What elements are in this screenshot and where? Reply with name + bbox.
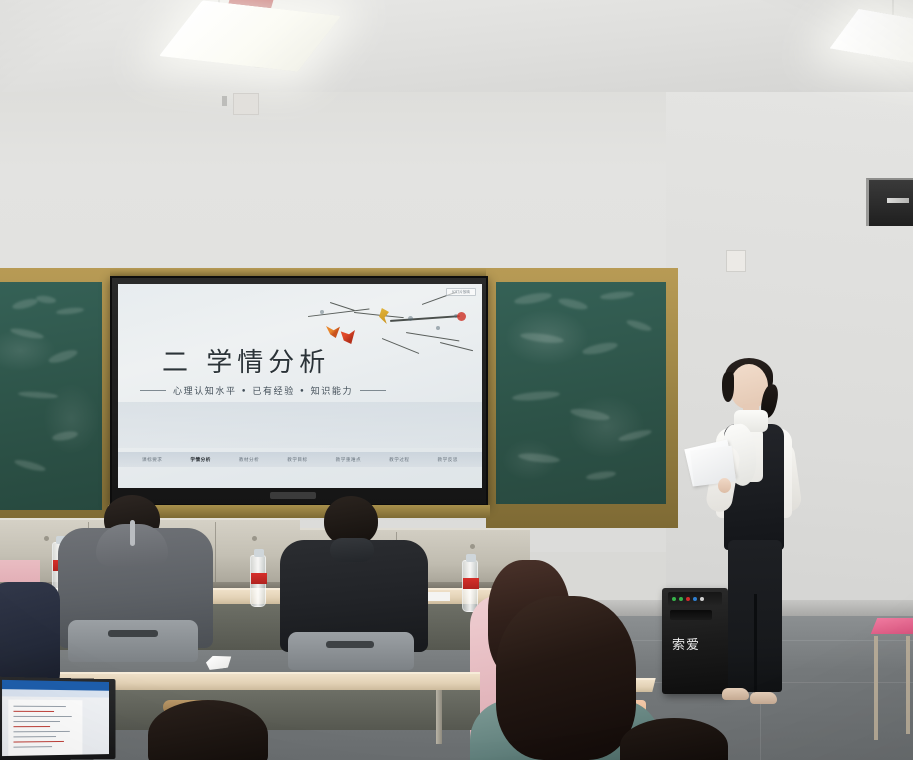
- laptop-screen[interactable]: [2, 680, 109, 756]
- red-seal-stamp: [457, 312, 466, 321]
- teacher-shoe-left: [722, 688, 749, 700]
- teacher-shoe-right: [750, 692, 777, 704]
- butterfly-red: [340, 330, 355, 344]
- slide-band: [118, 402, 482, 448]
- water-bottle-2[interactable]: [250, 555, 266, 607]
- blackboard-left: [0, 268, 110, 528]
- rule-left: [140, 390, 166, 391]
- blackboard-right: [486, 268, 678, 528]
- interactive-whiteboard[interactable]: 幻灯片放映 二 学情分析 心理认知水平 • 已有经验 • 知识能力 课标要求 学…: [110, 276, 488, 506]
- desk-leg: [436, 690, 442, 744]
- slide-subtitle-row: 心理认知水平 • 已有经验 • 知识能力: [140, 384, 460, 397]
- pink-folder[interactable]: [871, 618, 913, 634]
- side-table-right: [872, 630, 913, 740]
- slide-badge: 幻灯片放映: [446, 288, 476, 296]
- slide-nav-item-5[interactable]: 教学过程: [389, 457, 409, 463]
- slide-nav-item-1[interactable]: 学情分析: [190, 457, 210, 463]
- teacher-presenter: [688, 358, 816, 760]
- whiteboard-screen[interactable]: 幻灯片放映 二 学情分析 心理认知水平 • 已有经验 • 知识能力 课标要求 学…: [118, 284, 482, 488]
- ceiling-vent: [233, 93, 259, 115]
- presentation-slide: 幻灯片放映 二 学情分析 心理认知水平 • 已有经验 • 知识能力 课标要求 学…: [118, 284, 482, 488]
- slide-nav[interactable]: 课标要求 学情分析 教材分析 教学目标 教学重难点 教学过程 教学反思: [118, 452, 482, 467]
- laptop-document: [8, 699, 82, 755]
- ceiling-fitting: [222, 96, 227, 106]
- whiteboard-control-strip[interactable]: [270, 492, 316, 499]
- slide-nav-item-6[interactable]: 教学反思: [438, 457, 458, 463]
- slide-subtitle: 心理认知水平 • 已有经验 • 知识能力: [173, 384, 353, 397]
- slide-nav-item-4[interactable]: 教学重难点: [336, 457, 361, 463]
- chair-left[interactable]: [68, 620, 198, 662]
- slide-title: 二 学情分析: [162, 342, 330, 379]
- wall-speaker: [866, 178, 913, 226]
- water-bottle-3[interactable]: [462, 560, 478, 612]
- wall-plate: [726, 250, 746, 272]
- slide-nav-item-2[interactable]: 教材分析: [239, 457, 259, 463]
- slide-nav-item-3[interactable]: 教学目标: [287, 457, 307, 463]
- ceiling: [0, 0, 913, 100]
- teacher-hand: [718, 478, 731, 493]
- teacher-trouser-seam: [754, 594, 757, 694]
- teacher-hair-side: [722, 372, 734, 402]
- rule-right: [360, 390, 386, 391]
- butterfly-orange: [326, 326, 340, 338]
- slide-nav-item-0[interactable]: 课标要求: [142, 457, 162, 463]
- whiteboard-tray: [108, 505, 490, 518]
- laptop[interactable]: [0, 677, 116, 760]
- chair-center[interactable]: [288, 632, 414, 670]
- classroom-scene: 幻灯片放映 二 学情分析 心理认知水平 • 已有经验 • 知识能力 课标要求 学…: [0, 0, 913, 760]
- laptop-ribbon: [2, 689, 109, 697]
